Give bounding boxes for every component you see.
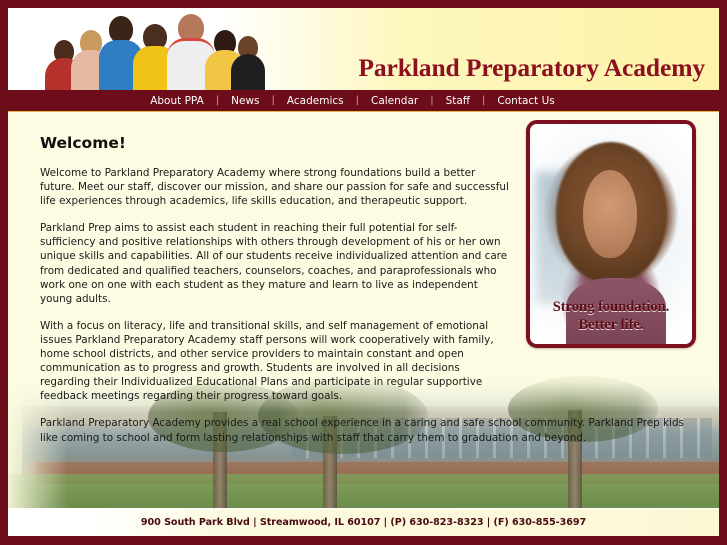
tagline-line-1: Strong foundation. bbox=[530, 298, 692, 316]
nav-list: About PPA | News | Academics | Calendar … bbox=[138, 90, 567, 112]
nav-item-calendar: Calendar bbox=[359, 90, 430, 112]
page-frame: Parkland Preparatory Academy About PPA |… bbox=[0, 0, 727, 545]
nav-item-staff: Staff bbox=[434, 90, 482, 112]
tagline-line-2: Better life. bbox=[530, 316, 692, 334]
site-title: Parkland Preparatory Academy bbox=[358, 55, 705, 81]
main-content: Welcome! Welcome to Parkland Preparatory… bbox=[8, 112, 719, 516]
nav-item-news: News bbox=[219, 90, 271, 112]
nav-link-staff[interactable]: Staff bbox=[434, 90, 482, 112]
nav-link-contact-us[interactable]: Contact Us bbox=[485, 90, 566, 112]
site-footer: 900 South Park Blvd | Streamwood, IL 601… bbox=[8, 508, 719, 536]
intro-paragraph: Welcome to Parkland Preparatory Academy … bbox=[40, 166, 512, 208]
main-navigation: About PPA | News | Academics | Calendar … bbox=[8, 90, 719, 112]
nav-item-contact-us: Contact Us bbox=[485, 90, 566, 112]
feature-photo-card: Strong foundation. Better life. bbox=[526, 120, 696, 348]
students-photo bbox=[45, 8, 260, 90]
nav-link-calendar[interactable]: Calendar bbox=[359, 90, 430, 112]
nav-link-academics[interactable]: Academics bbox=[275, 90, 356, 112]
nav-link-about-ppa[interactable]: About PPA bbox=[138, 90, 216, 112]
site-header: Parkland Preparatory Academy bbox=[8, 8, 719, 90]
text-column: Welcome to Parkland Preparatory Academy … bbox=[40, 166, 512, 403]
footer-address: 900 South Park Blvd | Streamwood, IL 601… bbox=[141, 517, 586, 528]
nav-item-about-ppa: About PPA bbox=[138, 90, 216, 112]
approach-paragraph: With a focus on literacy, life and trans… bbox=[40, 319, 512, 404]
student-figure bbox=[231, 36, 265, 90]
nav-item-academics: Academics bbox=[275, 90, 356, 112]
portrait-face bbox=[583, 170, 636, 258]
tagline: Strong foundation. Better life. bbox=[530, 298, 692, 334]
mission-paragraph: Parkland Prep aims to assist each studen… bbox=[40, 221, 512, 306]
nav-link-news[interactable]: News bbox=[219, 90, 271, 112]
closing-paragraph: Parkland Preparatory Academy provides a … bbox=[40, 416, 702, 444]
